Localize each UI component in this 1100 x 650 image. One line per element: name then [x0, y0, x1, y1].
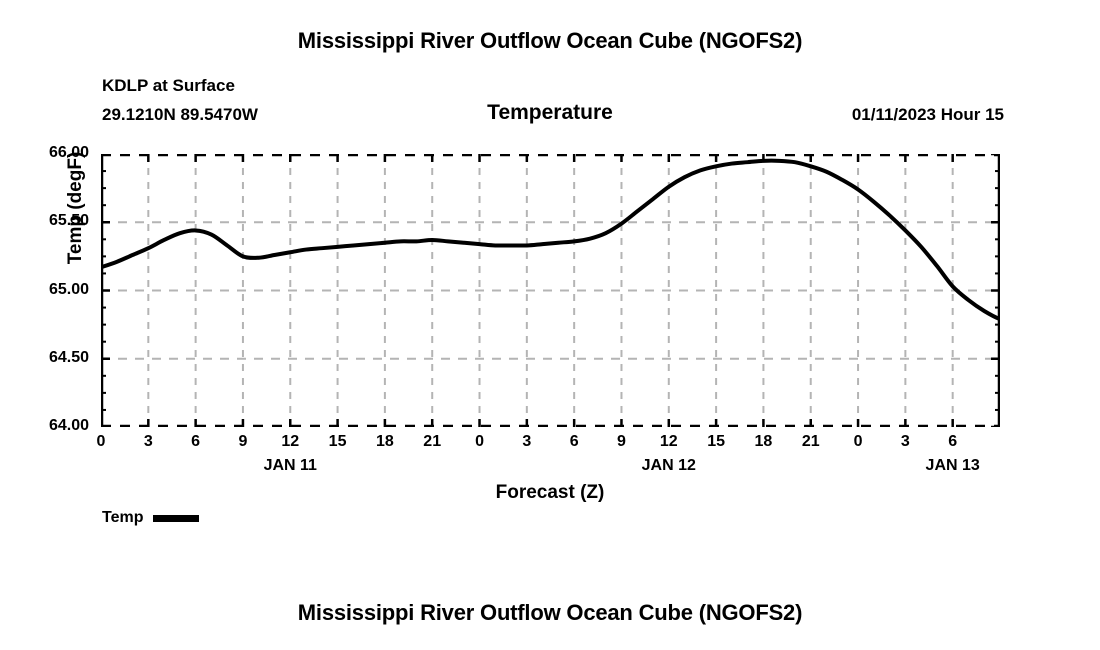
x-tick-label: 21 [802, 433, 820, 451]
footer-title: Mississippi River Outflow Ocean Cube (NG… [0, 600, 1100, 626]
plot-area [101, 154, 1000, 427]
temperature-line-chart [101, 154, 1000, 427]
y-tick-label: 64.00 [9, 417, 89, 435]
x-tick-label: 18 [376, 433, 394, 451]
x-tick-label: 0 [854, 433, 863, 451]
x-tick-label: 6 [948, 433, 957, 451]
page-title: Mississippi River Outflow Ocean Cube (NG… [0, 28, 1100, 54]
x-axis-title: Forecast (Z) [0, 482, 1100, 504]
x-tick-label: 0 [475, 433, 484, 451]
model-run-stamp: 01/11/2023 Hour 15 [852, 105, 1004, 125]
series-line-temp [101, 161, 1000, 324]
legend-label-temp: Temp [102, 509, 143, 527]
x-tick-label: 6 [191, 433, 200, 451]
y-tick-label: 66.00 [9, 144, 89, 162]
x-tick-label: 3 [144, 433, 153, 451]
x-tick-label: 9 [238, 433, 247, 451]
legend-swatch-temp [153, 515, 199, 522]
x-axis-day-label: JAN 12 [642, 457, 696, 475]
x-tick-label: 9 [617, 433, 626, 451]
x-axis-day-label: JAN 11 [264, 457, 317, 475]
x-tick-label: 3 [901, 433, 910, 451]
y-tick-label: 65.50 [9, 212, 89, 230]
x-tick-label: 15 [329, 433, 347, 451]
x-tick-label: 15 [707, 433, 725, 451]
x-tick-label: 18 [755, 433, 773, 451]
x-tick-label: 6 [570, 433, 579, 451]
x-tick-label: 12 [281, 433, 299, 451]
x-tick-label: 12 [660, 433, 678, 451]
x-tick-label: 3 [522, 433, 531, 451]
y-tick-label: 64.50 [9, 349, 89, 367]
station-label: KDLP at Surface [102, 76, 235, 96]
legend: Temp [102, 509, 199, 527]
chart-page: Mississippi River Outflow Ocean Cube (NG… [0, 0, 1100, 650]
x-axis-day-label: JAN 13 [926, 457, 980, 475]
x-tick-label: 0 [97, 433, 106, 451]
x-tick-label: 21 [423, 433, 441, 451]
y-tick-label: 65.00 [9, 281, 89, 299]
